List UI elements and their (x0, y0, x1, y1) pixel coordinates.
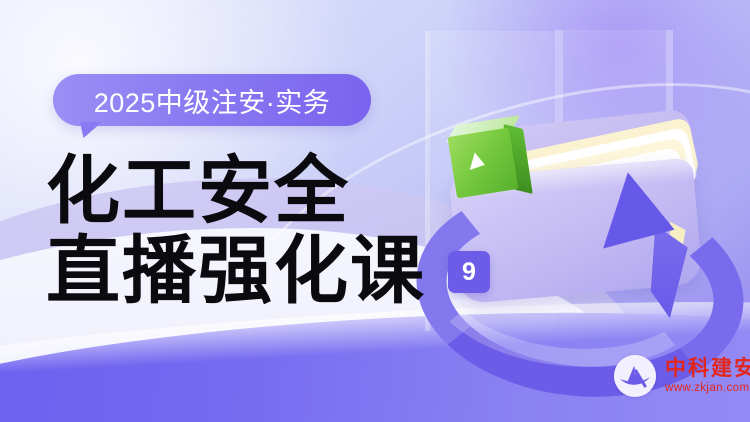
course-category-badge-label: 2025中级注安·实务 (94, 81, 331, 120)
badge-speech-tail (80, 122, 102, 138)
course-promo-banner: 2025中级注安·实务 化工安全 直播强化课 9 中科建安 www.zkjan.… (0, 0, 750, 422)
headline-line-1: 化工安全 (46, 152, 490, 232)
brand-logo: 中科建安 www.zkjan.com (614, 355, 750, 397)
brand-website: www.zkjan.com (665, 382, 750, 394)
brand-logo-text: 中科建安 www.zkjan.com (665, 358, 750, 394)
headline-line-2: 直播强化课 (46, 232, 426, 312)
brand-name: 中科建安 (665, 358, 750, 380)
headline-row-2: 直播强化课 9 (46, 232, 490, 312)
mountain-peak-circle-icon (614, 355, 656, 397)
episode-number-badge: 9 (448, 251, 490, 293)
headline-block: 化工安全 直播强化课 9 (46, 152, 490, 312)
course-category-badge: 2025中级注安·实务 (53, 74, 371, 126)
